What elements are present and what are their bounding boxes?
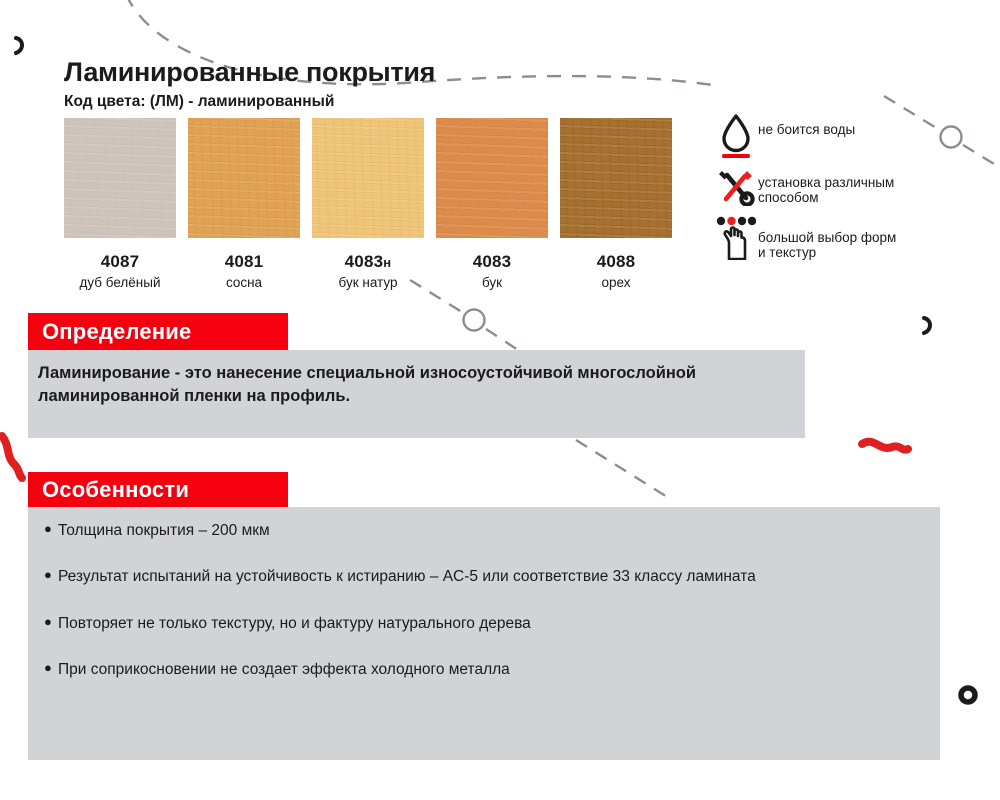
bullet-icon: ● <box>44 566 52 585</box>
legend-item-variety-label: большой выбор форми текстур <box>758 216 896 260</box>
color-swatch-name: дуб белёный <box>64 275 176 290</box>
red-squiggle-right <box>862 442 908 450</box>
wood-grain-texture <box>188 118 300 238</box>
legend-item-variety: большой выбор форми текстур <box>714 216 954 260</box>
feature-legend: не боится воды установка различнымспособ… <box>714 112 954 270</box>
features-tab: Особенности <box>28 472 288 507</box>
color-swatch-chip <box>560 118 672 238</box>
comma-mark-top-left <box>16 38 22 53</box>
color-swatch-item: 4088орех <box>560 118 672 290</box>
color-swatch-code: 4088 <box>560 252 672 272</box>
red-squiggle-left <box>2 436 22 478</box>
feature-item: ● Результат испытаний на устойчивость к … <box>44 566 924 587</box>
features-list: ●Толщина покрытия – 200 мкм● Результат и… <box>44 520 924 706</box>
dashed-line-right-top-2 <box>963 145 1000 170</box>
definition-tab: Определение <box>28 313 288 350</box>
color-swatch-chip <box>188 118 300 238</box>
hand-pointer-icon <box>714 216 758 260</box>
wood-grain-texture <box>312 118 424 238</box>
color-swatch-name: бук <box>436 275 548 290</box>
color-swatch-item: 4083бук <box>436 118 548 290</box>
wood-grain-texture <box>436 118 548 238</box>
color-swatch-chip <box>64 118 176 238</box>
bullet-icon: ● <box>44 613 52 632</box>
color-swatch-code-suffix: н <box>383 255 391 270</box>
dashed-line-mid-3 <box>576 440 672 500</box>
color-swatch-name: орех <box>560 275 672 290</box>
legend-item-installation: установка различнымспособом <box>714 168 954 206</box>
color-swatch-chip <box>312 118 424 238</box>
color-swatch-code: 4083 <box>436 252 548 272</box>
wood-grain-texture <box>64 118 176 238</box>
wood-grain-texture <box>560 118 672 238</box>
color-swatch-chip <box>436 118 548 238</box>
legend-item-water: не боится воды <box>714 112 954 158</box>
page-title: Ламинированные покрытия <box>64 57 435 88</box>
legend-item-water-label: не боится воды <box>758 112 855 137</box>
feature-item-text: Повторяет не только текстуру, но и факту… <box>58 615 531 632</box>
feature-item: ●Толщина покрытия – 200 мкм <box>44 520 924 541</box>
feature-item: ● Повторяет не только текстуру, но и фак… <box>44 613 924 634</box>
color-swatch-row: 4087дуб белёный4081сосна4083нбук натур40… <box>64 118 672 290</box>
tools-cross-icon <box>714 168 758 206</box>
color-swatch-code: 4083н <box>312 252 424 272</box>
water-drop-icon <box>714 112 758 158</box>
legend-item-installation-label: установка различнымспособом <box>758 168 894 205</box>
color-swatch-name: бук натур <box>312 275 424 290</box>
feature-item-text: Толщина покрытия – 200 мкм <box>58 522 270 539</box>
feature-item-text: Результат испытаний на устойчивость к ис… <box>58 568 756 585</box>
feature-item: ●При соприкосновении не создает эффекта … <box>44 659 924 680</box>
bullet-icon: ● <box>44 520 52 539</box>
comma-mark-right <box>924 318 930 333</box>
color-swatch-code: 4087 <box>64 252 176 272</box>
color-swatch-item: 4081сосна <box>188 118 300 290</box>
color-swatch-item: 4087дуб белёный <box>64 118 176 290</box>
color-swatch-name: сосна <box>188 275 300 290</box>
color-swatch-item: 4083нбук натур <box>312 118 424 290</box>
page-subtitle: Код цвета: (ЛМ) - ламинированный <box>64 93 334 111</box>
color-swatch-code: 4081 <box>188 252 300 272</box>
ring-mark-bottom-right <box>961 688 975 702</box>
bullet-icon: ● <box>44 659 52 678</box>
circle-node-mid <box>464 310 485 331</box>
feature-item-text: При соприкосновении не создает эффекта х… <box>58 661 510 678</box>
definition-text: Ламинирование - это нанесение специально… <box>38 362 738 409</box>
